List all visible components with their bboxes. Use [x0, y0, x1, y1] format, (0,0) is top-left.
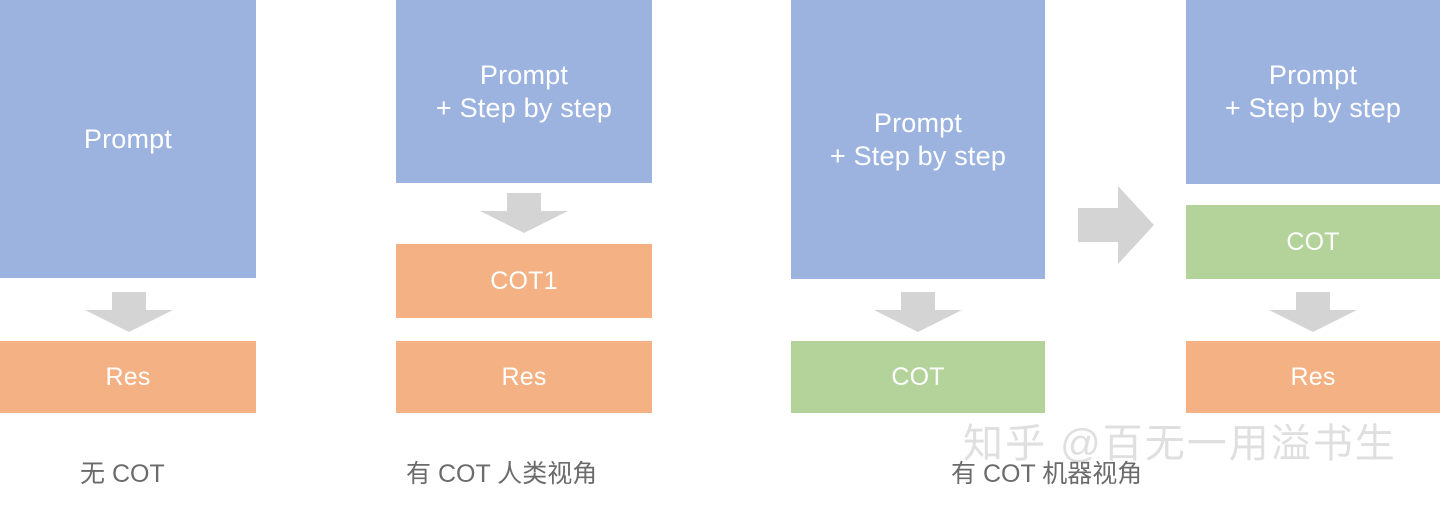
- arrow-down-icon-col3: [874, 292, 962, 332]
- box-res-col1: Res: [0, 341, 256, 413]
- box-label: Prompt: [0, 123, 256, 156]
- diagram-canvas: Prompt Res 无 COT Prompt + Step by step C…: [0, 0, 1440, 514]
- box-label: Prompt + Step by step: [791, 107, 1045, 173]
- box-res-col4: Res: [1186, 341, 1440, 413]
- arrow-down-icon-col2: [480, 193, 568, 233]
- box-label: COT: [791, 362, 1045, 393]
- box-label: Res: [1186, 362, 1440, 393]
- arrow-down-icon-col4: [1269, 292, 1357, 332]
- box-label: Res: [396, 362, 652, 393]
- box-label: COT1: [396, 266, 652, 297]
- box-prompt-step-col2: Prompt + Step by step: [396, 0, 652, 183]
- box-cot1-col2: COT1: [396, 244, 652, 318]
- box-prompt-step-col3: Prompt + Step by step: [791, 0, 1045, 279]
- box-cot-col4: COT: [1186, 205, 1440, 279]
- box-label: Prompt + Step by step: [396, 59, 652, 125]
- box-prompt-col1: Prompt: [0, 0, 256, 278]
- caption-col3: 有 COT 机器视角: [951, 462, 1142, 487]
- arrow-right-icon: [1078, 186, 1154, 264]
- caption-col2: 有 COT 人类视角: [406, 462, 597, 487]
- box-label: Res: [0, 362, 256, 393]
- box-label: COT: [1186, 227, 1440, 258]
- box-cot-col3: COT: [791, 341, 1045, 413]
- zhihu-watermark: 知乎 @百无一用溢书生: [963, 424, 1397, 464]
- box-prompt-step-col4: Prompt + Step by step: [1186, 0, 1440, 184]
- box-label: Prompt + Step by step: [1186, 59, 1440, 125]
- box-res-col2: Res: [396, 341, 652, 413]
- arrow-down-icon-col1: [85, 292, 173, 332]
- caption-col1: 无 COT: [80, 462, 165, 487]
